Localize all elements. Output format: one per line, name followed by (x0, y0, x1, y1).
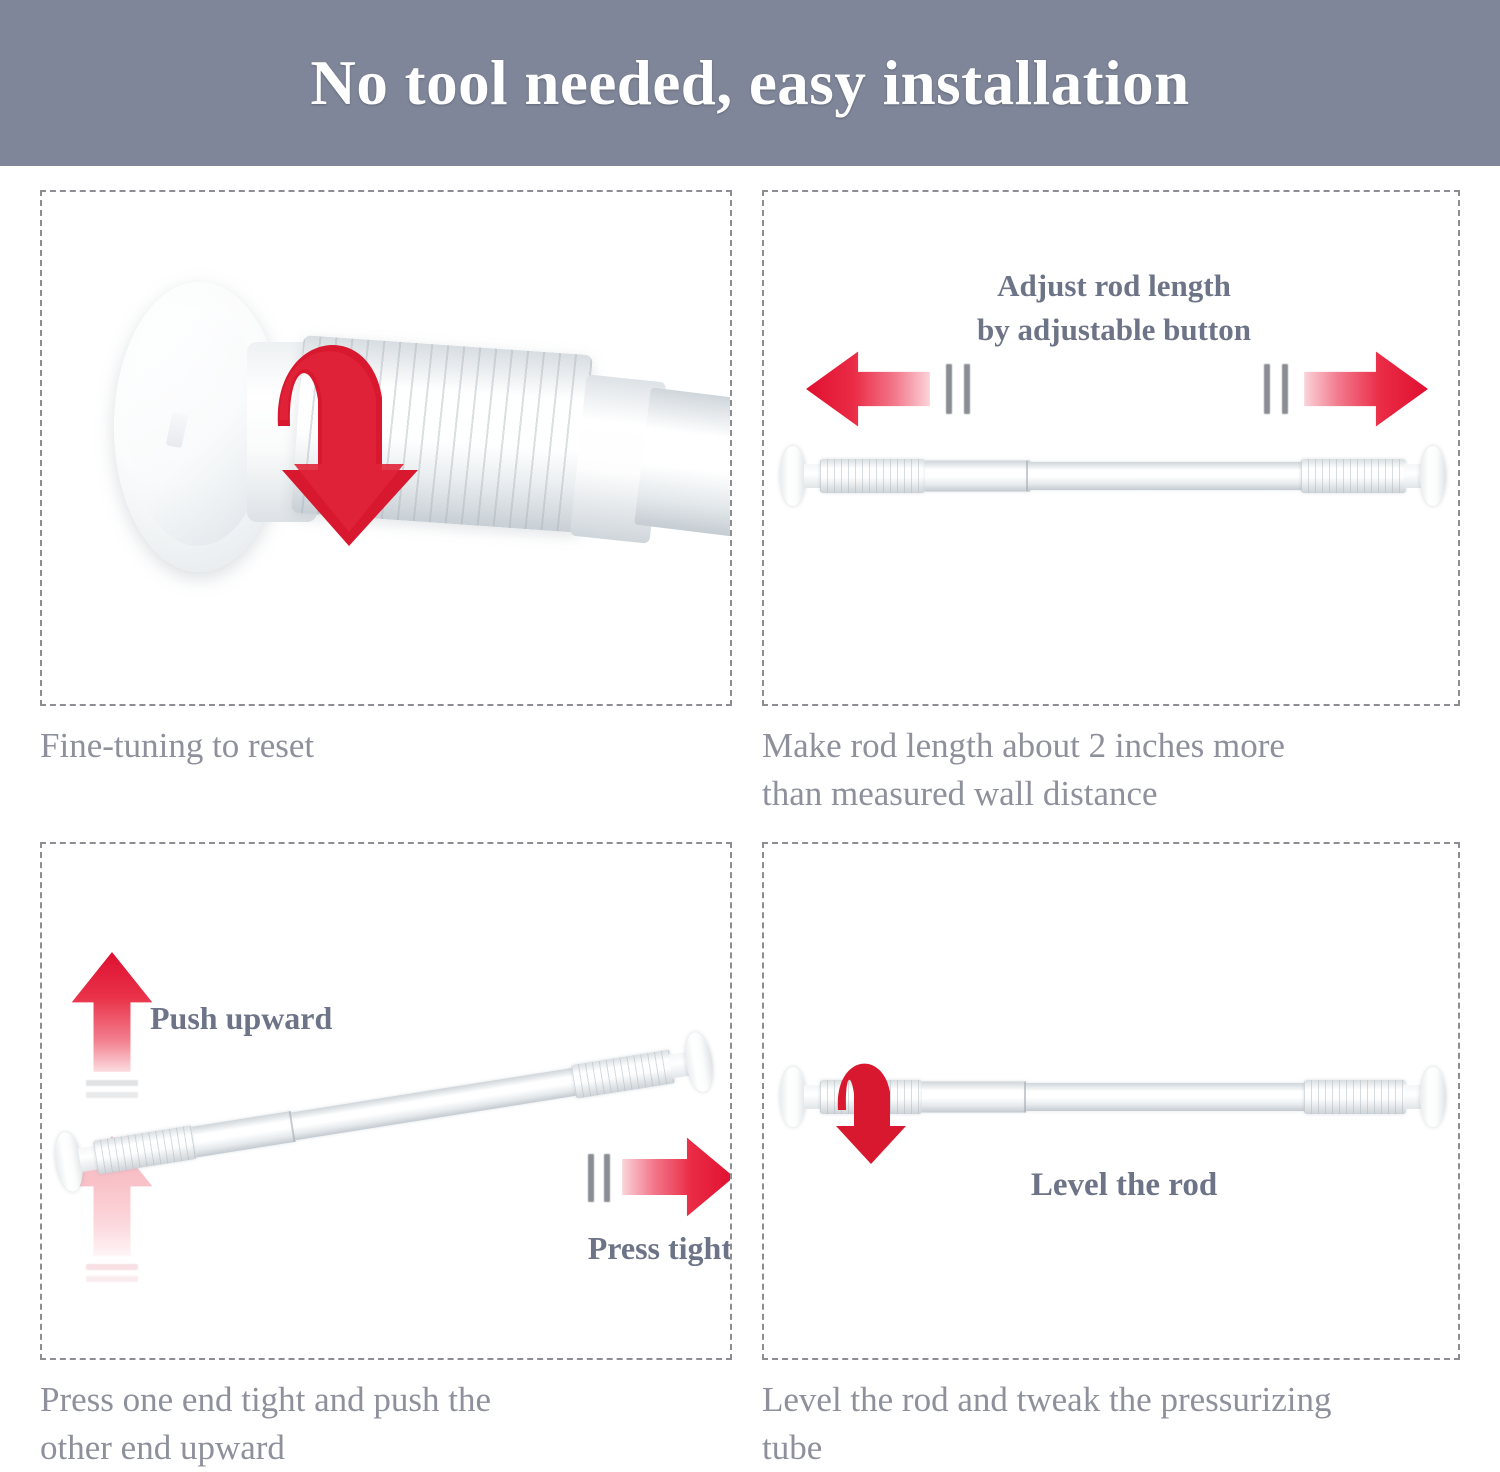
panel-press-and-push-frame: Push upward (40, 842, 732, 1360)
motion-lines-icon (588, 1154, 594, 1202)
caption-fine-tuning: Fine-tuning to reset (40, 722, 700, 770)
motion-lines-icon (86, 1264, 138, 1270)
arrow-right-icon (1304, 350, 1428, 428)
arrow-right-icon (622, 1136, 732, 1218)
caption-adjust-length: Make rod length about 2 inches more than… (762, 722, 1462, 818)
label-level-the-rod: Level the rod (944, 1162, 1304, 1209)
rod-inner-tube (1028, 462, 1301, 490)
rod-inner-tube (1026, 1083, 1304, 1111)
rod-ribbed-collar (571, 1050, 675, 1099)
rod-ribbed-collar (1304, 1080, 1406, 1114)
motion-lines-icon (86, 1276, 138, 1282)
panel-adjust-length-frame: Adjust rod length by adjustable button (762, 190, 1460, 706)
rod-inner-tube (291, 1068, 576, 1140)
motion-lines-icon (86, 1092, 138, 1098)
rod-inner-tube (634, 387, 732, 542)
panel-fine-tuning (40, 190, 732, 706)
motion-lines-icon (1282, 364, 1288, 414)
caption-level-the-rod: Level the rod and tweak the pressurizing… (762, 1376, 1462, 1472)
page-title: No tool needed, easy installation (310, 47, 1189, 120)
label-adjust-rod-length: Adjust rod length by adjustable button (824, 264, 1404, 352)
rod-outer-tube (922, 1082, 1026, 1113)
panel-adjust-length: Adjust rod length by adjustable button (762, 190, 1460, 706)
arrow-left-icon (806, 350, 930, 428)
rod-ribbed-collar (820, 459, 925, 493)
motion-lines-icon (946, 364, 952, 414)
motion-lines-icon (604, 1154, 610, 1202)
rotate-arrow-icon (242, 288, 432, 558)
label-press-tight: Press tight (462, 1226, 732, 1271)
motion-lines-icon (1264, 364, 1270, 414)
panel-press-and-push: Push upward (40, 842, 732, 1360)
infographic-page: No tool needed, easy installation (0, 0, 1500, 1472)
rod-ribbed-collar (93, 1125, 197, 1174)
rod-end-cap-icon (682, 1030, 717, 1093)
rod-end-cap-icon (1420, 446, 1446, 506)
rod-outer-tube (192, 1111, 296, 1157)
panel-fine-tuning-frame (40, 190, 732, 706)
rod-end-cap-icon (780, 446, 806, 506)
label-push-upward: Push upward (150, 996, 430, 1041)
rod-end-cap-icon (1420, 1067, 1446, 1127)
rotate-arrow-icon (820, 1040, 910, 1170)
caption-press-and-push: Press one end tight and push the other e… (40, 1376, 700, 1472)
motion-lines-icon (86, 1080, 138, 1086)
rod-ribbed-collar (1301, 459, 1406, 493)
rod-outer-tube (925, 461, 1030, 492)
rod-end-cap-icon (780, 1067, 806, 1127)
panel-level-the-rod-frame: Level the rod (762, 842, 1460, 1360)
panel-level-the-rod: Level the rod (762, 842, 1460, 1360)
arrow-up-icon (70, 952, 154, 1072)
panel-grid: Fine-tuning to reset Adjust rod length b… (0, 166, 1500, 1472)
header-banner: No tool needed, easy installation (0, 0, 1500, 166)
motion-lines-icon (964, 364, 970, 414)
tension-rod-icon (780, 444, 1446, 508)
